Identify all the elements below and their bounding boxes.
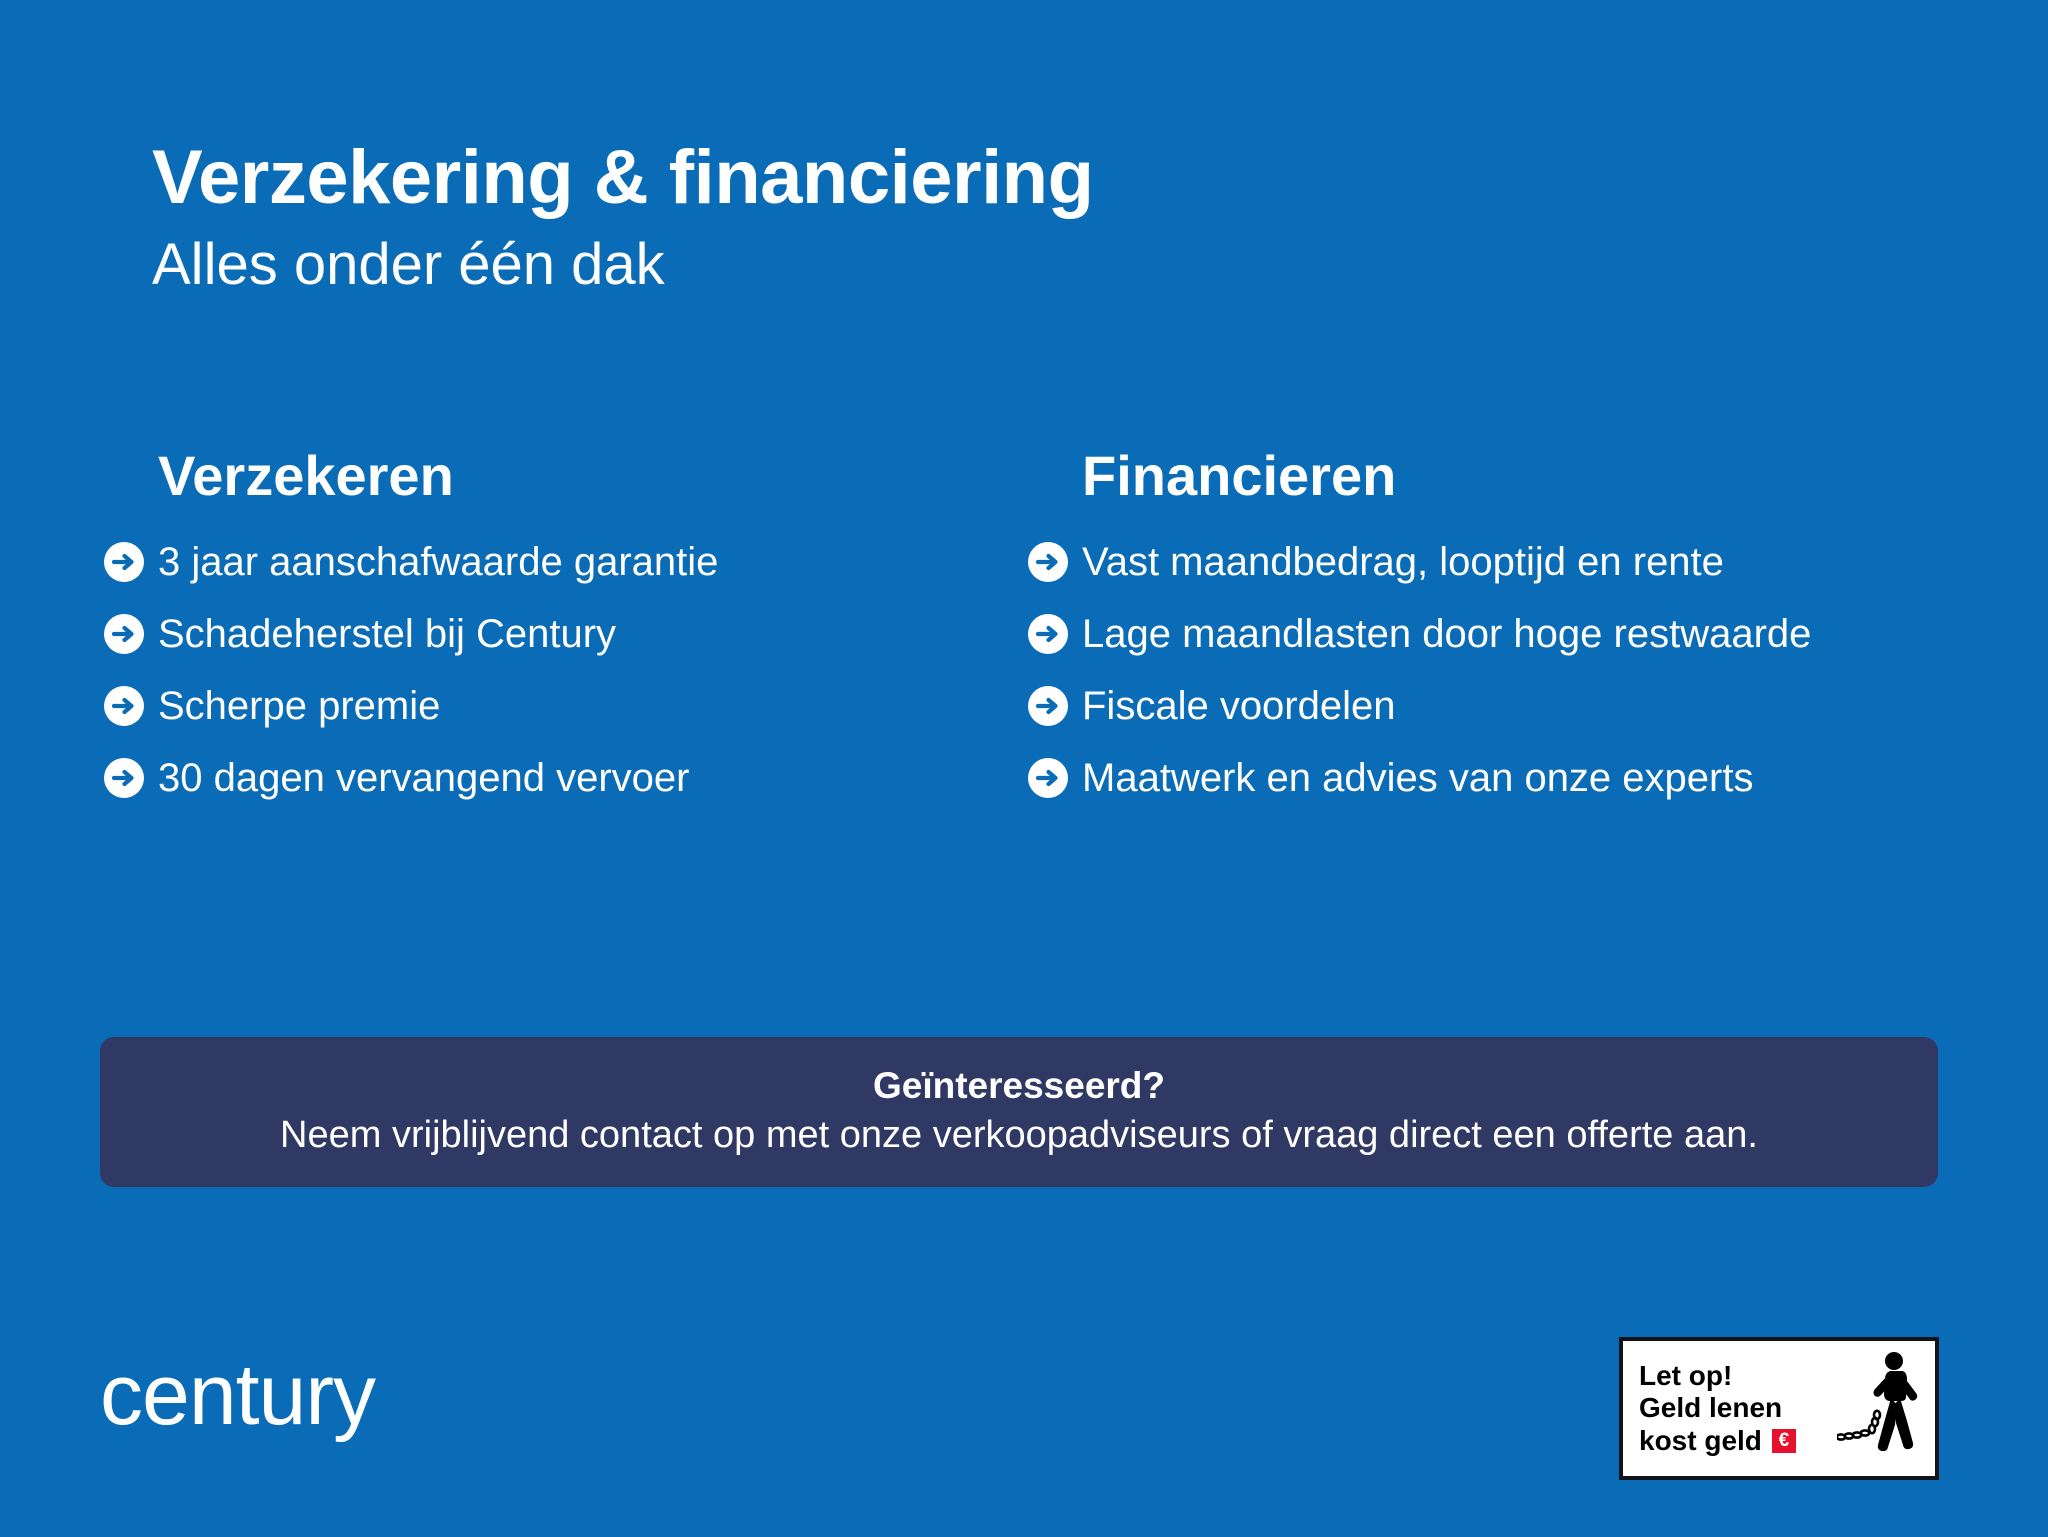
list-item: Lage maandlasten door hoge restwaarde bbox=[1028, 612, 1960, 656]
afm-warning-line-3: kost geld bbox=[1639, 1425, 1762, 1457]
list-item: 3 jaar aanschafwaarde garantie bbox=[104, 540, 1020, 584]
list-item: Vast maandbedrag, looptijd en rente bbox=[1028, 540, 1960, 584]
arrow-right-circle-icon bbox=[104, 686, 144, 726]
list-item-label: 3 jaar aanschafwaarde garantie bbox=[158, 540, 718, 584]
list-item-label: Fiscale voordelen bbox=[1082, 684, 1396, 728]
feature-columns: Verzekeren 3 jaar aanschafwaarde garanti… bbox=[100, 448, 1960, 800]
list-item-label: Schadeherstel bij Century bbox=[158, 612, 616, 656]
afm-warning-line-1: Let op! bbox=[1639, 1360, 1837, 1392]
arrow-right-circle-icon bbox=[1028, 758, 1068, 798]
column-heading-verzekeren: Verzekeren bbox=[158, 448, 1020, 504]
arrow-right-circle-icon bbox=[104, 614, 144, 654]
cta-title: Geïnteresseerd? bbox=[873, 1065, 1165, 1108]
list-item: Maatwerk en advies van onze experts bbox=[1028, 756, 1960, 800]
column-verzekeren: Verzekeren 3 jaar aanschafwaarde garanti… bbox=[100, 448, 1020, 800]
list-item-label: Vast maandbedrag, looptijd en rente bbox=[1082, 540, 1724, 584]
column-heading-financieren: Financieren bbox=[1082, 448, 1960, 504]
bullet-list-financieren: Vast maandbedrag, looptijd en rente Lage… bbox=[1028, 540, 1960, 800]
list-item-label: Maatwerk en advies van onze experts bbox=[1082, 756, 1753, 800]
euro-badge-icon: € bbox=[1772, 1429, 1796, 1453]
afm-warning-line-3-row: kost geld € bbox=[1639, 1425, 1837, 1457]
arrow-right-circle-icon bbox=[104, 758, 144, 798]
list-item-label: Lage maandlasten door hoge restwaarde bbox=[1082, 612, 1811, 656]
arrow-right-circle-icon bbox=[1028, 542, 1068, 582]
arrow-right-circle-icon bbox=[1028, 614, 1068, 654]
cta-description: Neem vrijblijvend contact op met onze ve… bbox=[280, 1113, 1758, 1159]
list-item-label: Scherpe premie bbox=[158, 684, 440, 728]
list-item: Fiscale voordelen bbox=[1028, 684, 1960, 728]
walking-person-with-chain-icon bbox=[1837, 1349, 1929, 1469]
page-title: Verzekering & financiering bbox=[152, 140, 1852, 216]
slide-canvas: Verzekering & financiering Alles onder é… bbox=[0, 0, 2048, 1537]
header: Verzekering & financiering Alles onder é… bbox=[152, 140, 1852, 299]
afm-warning-line-2: Geld lenen bbox=[1639, 1392, 1837, 1424]
list-item: Scherpe premie bbox=[104, 684, 1020, 728]
list-item-label: 30 dagen vervangend vervoer bbox=[158, 756, 689, 800]
afm-warning-text: Let op! Geld lenen kost geld € bbox=[1623, 1360, 1837, 1457]
bullet-list-verzekeren: 3 jaar aanschafwaarde garantie Schadeher… bbox=[104, 540, 1020, 800]
arrow-right-circle-icon bbox=[1028, 686, 1068, 726]
list-item: 30 dagen vervangend vervoer bbox=[104, 756, 1020, 800]
cta-banner: Geïnteresseerd? Neem vrijblijvend contac… bbox=[100, 1037, 1938, 1187]
list-item: Schadeherstel bij Century bbox=[104, 612, 1020, 656]
afm-warning-box: Let op! Geld lenen kost geld € bbox=[1619, 1337, 1939, 1480]
arrow-right-circle-icon bbox=[104, 542, 144, 582]
century-logo: century bbox=[100, 1352, 375, 1438]
page-subtitle: Alles onder één dak bbox=[152, 232, 1852, 299]
column-financieren: Financieren Vast maandbedrag, looptijd e… bbox=[1020, 448, 1960, 800]
